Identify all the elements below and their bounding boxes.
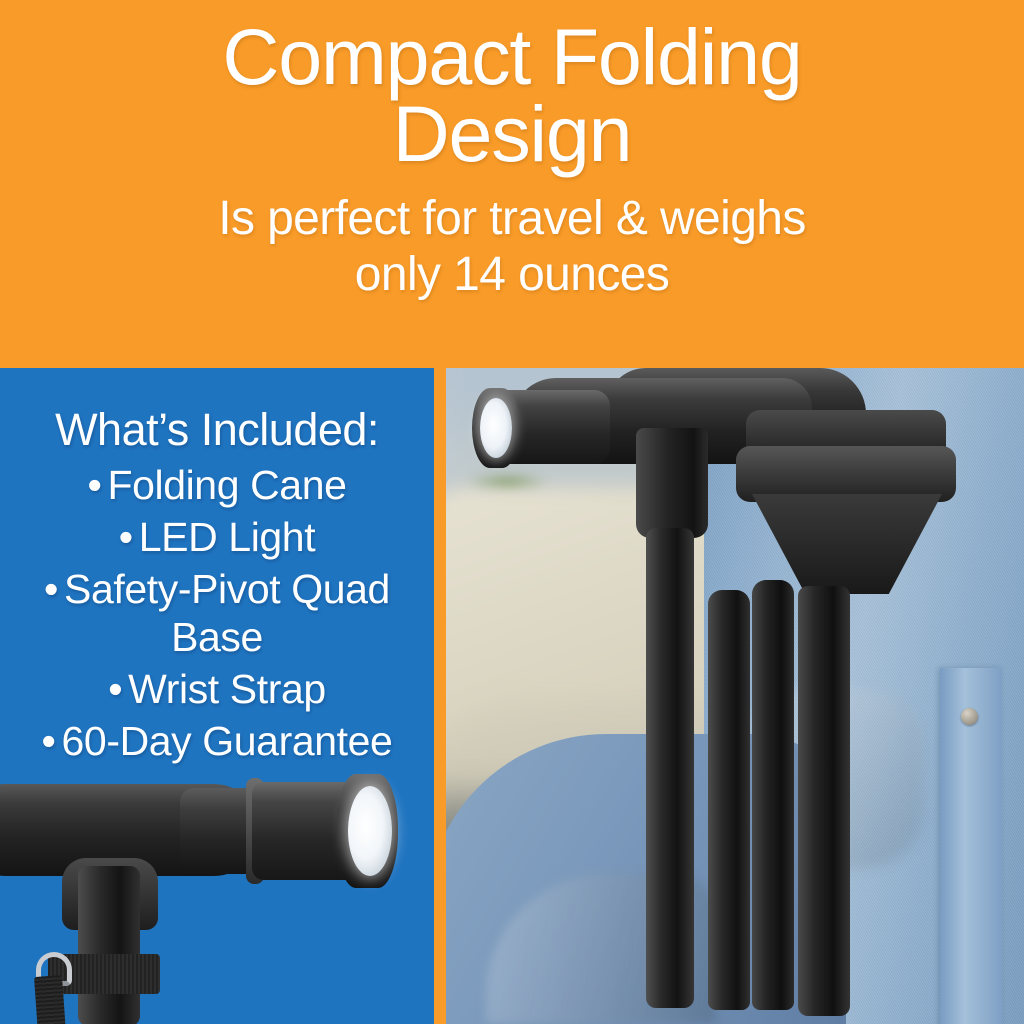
quad-base-icon	[736, 446, 956, 502]
subline-line-1: Is perfect for travel & weighs	[218, 191, 806, 248]
vertical-divider	[434, 362, 446, 1024]
list-item-label: LED Light	[139, 514, 315, 560]
list-item-label: Folding Cane	[107, 462, 346, 508]
quad-base-stem-icon	[798, 586, 850, 1016]
list-item-label: Wrist Strap	[128, 666, 326, 712]
list-item: •LED Light	[10, 514, 424, 562]
list-item-label: Safety-Pivot Quad Base	[64, 566, 390, 660]
list-item: •Wrist Strap	[10, 666, 424, 714]
cane-neck-icon	[636, 428, 708, 538]
folded-tube-second-icon	[752, 580, 794, 1010]
list-item-label: 60-Day Guarantee	[62, 718, 393, 764]
header-panel: Compact Folding Design Is perfect for tr…	[0, 0, 1024, 362]
whats-included-list: •Folding Cane •LED Light •Safety-Pivot Q…	[0, 462, 434, 766]
whats-included-panel: What’s Included: •Folding Cane •LED Ligh…	[0, 368, 434, 1024]
page-title: Compact Folding Design	[222, 18, 801, 173]
subline-line-2: only 14 ounces	[218, 247, 806, 304]
strap-tail-icon	[34, 975, 66, 1024]
folded-tubes-icon	[708, 590, 750, 1010]
bullet-icon: •	[44, 566, 58, 612]
horizontal-divider	[0, 362, 1024, 368]
flashlight-lens-icon	[348, 786, 392, 876]
list-item: •Safety-Pivot Quad Base	[10, 566, 424, 662]
headline-line-2: Design	[222, 95, 801, 172]
list-item: •60-Day Guarantee	[10, 718, 424, 766]
list-item: •Folding Cane	[10, 462, 424, 510]
bullet-icon: •	[87, 462, 101, 508]
bullet-icon: •	[42, 718, 56, 764]
page-subtitle: Is perfect for travel & weighs only 14 o…	[218, 191, 806, 304]
cane-shaft-icon	[78, 866, 140, 1024]
whats-included-title: What’s Included:	[0, 404, 434, 456]
headline-line-1: Compact Folding	[222, 18, 801, 95]
inset-product-photo	[0, 762, 434, 1024]
shirt-button-icon	[961, 708, 978, 725]
bullet-icon: •	[119, 514, 133, 560]
infographic-page: Compact Folding Design Is perfect for tr…	[0, 0, 1024, 1024]
main-product-photo	[446, 368, 1024, 1024]
bullet-icon: •	[108, 666, 122, 712]
flashlight-lens-icon	[480, 398, 512, 458]
cane-shaft-icon	[646, 528, 694, 1008]
